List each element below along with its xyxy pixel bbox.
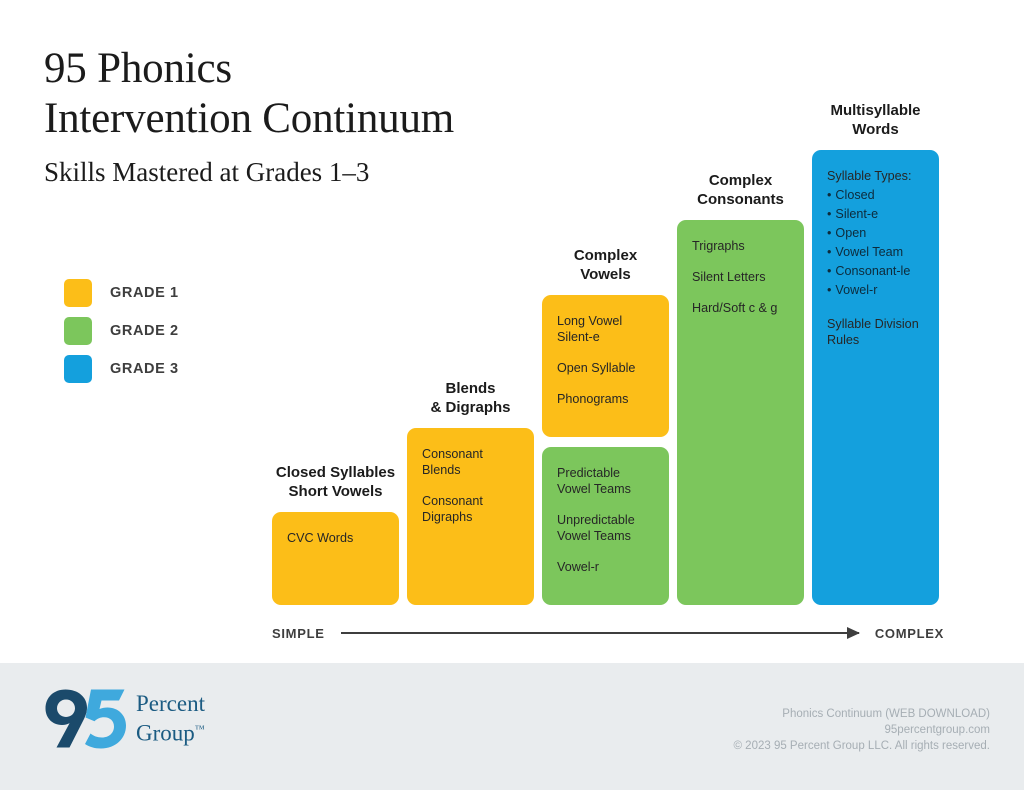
column-heading-line-1: Complex [542,246,669,265]
legend-item-grade-3: GRADE 3 [64,350,179,388]
credit-line-title: Phonics Continuum (WEB DOWNLOAD) [734,706,991,722]
skill-item: Trigraphs [692,238,789,254]
chart-column-1: Closed SyllablesShort VowelsCVC Words [272,463,399,605]
column-heading-line-2: Short Vowels [272,482,399,501]
bar-segment-grade-2: TrigraphsSilent LettersHard/Soft c & g [677,220,804,605]
logo-word-group-text: Group [136,721,195,746]
copyright-block: Phonics Continuum (WEB DOWNLOAD) 95perce… [734,706,991,754]
column-heading-line-2: Vowels [542,265,669,284]
skill-item: Hard/Soft c & g [692,300,789,316]
list-item: •Silent-e [827,205,924,224]
bar-segment-grade-1: CVC Words [272,512,399,605]
column-heading-line-1: Closed Syllables [272,463,399,482]
skill-item: Vowel-r [557,559,654,575]
column-heading: ComplexVowels [542,246,669,284]
skill-item: Predictable Vowel Teams [557,465,654,497]
bar-segment-grade-1: Consonant BlendsConsonant Digraphs [407,428,534,605]
logo-word-percent: Percent [136,691,205,717]
brand-logo: Percent Group™ [44,686,205,752]
segment-list-intro: Syllable Types: [827,168,924,184]
skill-item: Unpredictable Vowel Teams [557,512,654,544]
bullet-icon: • [827,226,831,240]
infographic-page: 95 Phonics Intervention Continuum Skills… [0,0,1024,790]
skill-item: Consonant Digraphs [422,493,519,525]
skill-item: Consonant Blends [422,446,519,478]
list-item: •Closed [827,186,924,205]
list-item: •Open [827,224,924,243]
column-heading: Closed SyllablesShort Vowels [272,463,399,501]
list-item-label: Consonant-le [835,264,910,278]
column-heading: Blends& Digraphs [407,379,534,417]
axis-label-complex: COMPLEX [875,626,944,641]
chart-column-3: ComplexVowelsLong Vowel Silent-eOpen Syl… [542,246,669,605]
legend-label-grade-1: GRADE 1 [110,285,179,301]
list-item: •Vowel-r [827,281,924,300]
trademark-icon: ™ [195,724,205,735]
legend-label-grade-2: GRADE 2 [110,323,179,339]
bullet-icon: • [827,283,831,297]
skill-item: Open Syllable [557,360,654,376]
chart-column-5: MultisyllableWordsSyllable Types:•Closed… [812,101,939,605]
skill-item: Long Vowel Silent-e [557,313,654,345]
legend-swatch-grade-2 [64,317,92,345]
list-item: •Vowel Team [827,243,924,262]
axis-label-simple: SIMPLE [272,626,325,641]
axis-line [341,626,859,640]
spacer [827,300,924,316]
list-item-label: Closed [835,188,874,202]
bullet-icon: • [827,245,831,259]
skill-item: CVC Words [287,530,384,546]
skill-item: Silent Letters [692,269,789,285]
column-heading-line-2: Consonants [677,190,804,209]
arrow-right-icon [847,627,860,639]
list-item-label: Vowel Team [835,245,903,259]
column-heading-line-2: & Digraphs [407,398,534,417]
bullet-icon: • [827,207,831,221]
column-heading: ComplexConsonants [677,171,804,209]
legend-item-grade-1: GRADE 1 [64,274,179,312]
list-item-label: Open [835,226,866,240]
column-heading: MultisyllableWords [812,101,939,139]
legend-swatch-grade-3 [64,355,92,383]
legend-label-grade-3: GRADE 3 [110,361,179,377]
staircase-chart: Closed SyllablesShort VowelsCVC WordsBle… [272,80,944,605]
skill-item: Syllable Division Rules [827,316,924,348]
column-heading-line-2: Words [812,120,939,139]
axis-rule [341,632,859,634]
logo-word-group: Group™ [136,717,205,747]
chart-column-2: Blends& DigraphsConsonant BlendsConsonan… [407,379,534,605]
legend: GRADE 1 GRADE 2 GRADE 3 [64,274,179,388]
list-item-label: Vowel-r [835,283,877,297]
chart-column-4: ComplexConsonantsTrigraphsSilent Letters… [677,171,804,605]
legend-swatch-grade-1 [64,279,92,307]
95-logo-icon [44,686,128,752]
logo-wordmark: Percent Group™ [136,691,205,747]
continuum-axis: SIMPLE COMPLEX [272,620,944,646]
bar-segment-grade-2: Predictable Vowel TeamsUnpredictable Vow… [542,447,669,605]
bullet-icon: • [827,188,831,202]
list-item-label: Silent-e [835,207,878,221]
bar-segment-grade-1: Long Vowel Silent-eOpen SyllablePhonogra… [542,295,669,437]
list-item: •Consonant-le [827,262,924,281]
column-heading-line-1: Complex [677,171,804,190]
syllable-types-list: •Closed•Silent-e•Open•Vowel Team•Consona… [827,186,924,300]
bar-segment-grade-3: Syllable Types:•Closed•Silent-e•Open•Vow… [812,150,939,605]
bullet-icon: • [827,264,831,278]
credit-line-website: 95percentgroup.com [734,722,991,738]
legend-item-grade-2: GRADE 2 [64,312,179,350]
column-heading-line-1: Blends [407,379,534,398]
column-heading-line-1: Multisyllable [812,101,939,120]
skill-item: Phonograms [557,391,654,407]
credit-line-rights: © 2023 95 Percent Group LLC. All rights … [734,738,991,754]
